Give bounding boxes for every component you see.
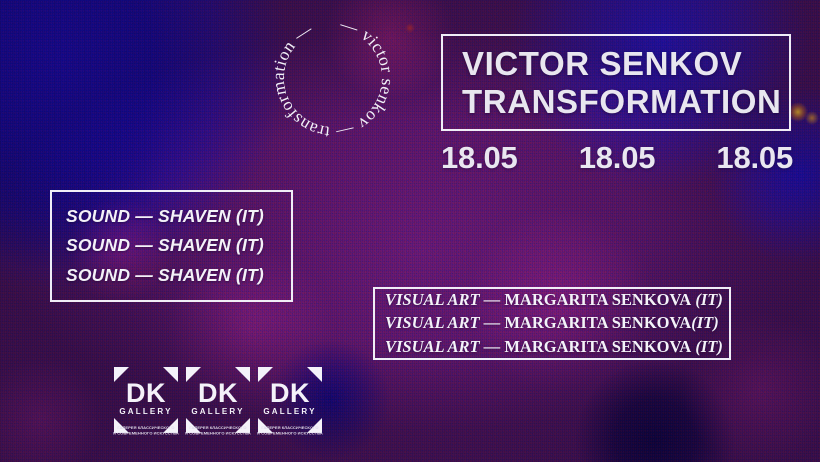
visual-art-role: VISUAL ART (385, 337, 480, 356)
title-frame: VICTOR SENKOV TRANSFORMATION (441, 34, 791, 131)
circular-text-badge: — victor senkov — transformation — (263, 8, 403, 148)
logo-monogram: DK (113, 380, 179, 407)
logo-caption: ГАЛЕРЕЯ КЛАССИЧЕСКОГО И СОВРЕМЕННОГО ИСК… (247, 425, 332, 436)
sound-lineup-frame: SOUND — SHAVEN (IT) SOUND — SHAVEN (IT) … (50, 190, 293, 302)
logo-wordmark: GALLERY (113, 408, 179, 416)
page-title-line-1: VICTOR SENKOV (462, 45, 789, 83)
visual-art-credit-line: VISUAL ART — MARGARITA SENKOVA (IT) (385, 292, 729, 309)
visual-art-dash: — (480, 290, 505, 309)
gallery-logo-row: DK GALLERY ГАЛЕРЕЯ КЛАССИЧЕСКОГО И СОВРЕ… (113, 366, 323, 434)
logo-wordmark: GALLERY (257, 408, 323, 416)
visual-art-dash: — (480, 313, 505, 332)
dk-gallery-logo: DK GALLERY ГАЛЕРЕЯ КЛАССИЧЕСКОГО И СОВРЕ… (257, 366, 323, 434)
logo-wordmark: GALLERY (185, 408, 251, 416)
visual-art-country: (IT) (691, 337, 723, 356)
sound-credit-line: SOUND — SHAVEN (IT) (66, 208, 291, 226)
visual-art-artist: MARGARITA SENKOVA (504, 337, 691, 356)
sound-credit-line: SOUND — SHAVEN (IT) (66, 237, 291, 255)
visual-art-credit-line: VISUAL ART — MARGARITA SENKOVA(IT) (385, 315, 729, 332)
logo-caption-line-2: И СОВРЕМЕННОГО ИСКУССТВА (247, 431, 332, 436)
visual-art-lineup-frame: VISUAL ART — MARGARITA SENKOVA (IT) VISU… (373, 287, 731, 360)
visual-art-country: (IT) (691, 290, 723, 309)
visual-art-country: (IT) (691, 313, 719, 332)
poster-canvas: — victor senkov — transformation — VICTO… (0, 0, 820, 462)
visual-art-dash: — (480, 337, 505, 356)
visual-art-artist: MARGARITA SENKOVA (504, 290, 691, 309)
dk-gallery-logo: DK GALLERY ГАЛЕРЕЯ КЛАССИЧЕСКОГО И СОВРЕ… (185, 366, 251, 434)
visual-art-role: VISUAL ART (385, 290, 480, 309)
visual-art-credit-line: VISUAL ART — MARGARITA SENKOVA (IT) (385, 339, 729, 356)
event-date-2: 18.05 (579, 140, 656, 176)
visual-art-role: VISUAL ART (385, 313, 480, 332)
event-date-1: 18.05 (441, 140, 518, 176)
page-title-line-2: TRANSFORMATION (462, 83, 789, 121)
sound-credit-line: SOUND — SHAVEN (IT) (66, 267, 291, 285)
visual-art-artist: MARGARITA SENKOVA (504, 313, 691, 332)
circular-text-label: — victor senkov — transformation — (268, 13, 398, 143)
dates-row: 18.05 18.05 18.05 (441, 140, 793, 176)
event-date-3: 18.05 (716, 140, 793, 176)
dk-gallery-logo: DK GALLERY ГАЛЕРЕЯ КЛАССИЧЕСКОГО И СОВРЕ… (113, 366, 179, 434)
logo-monogram: DK (185, 380, 251, 407)
logo-monogram: DK (257, 380, 323, 407)
